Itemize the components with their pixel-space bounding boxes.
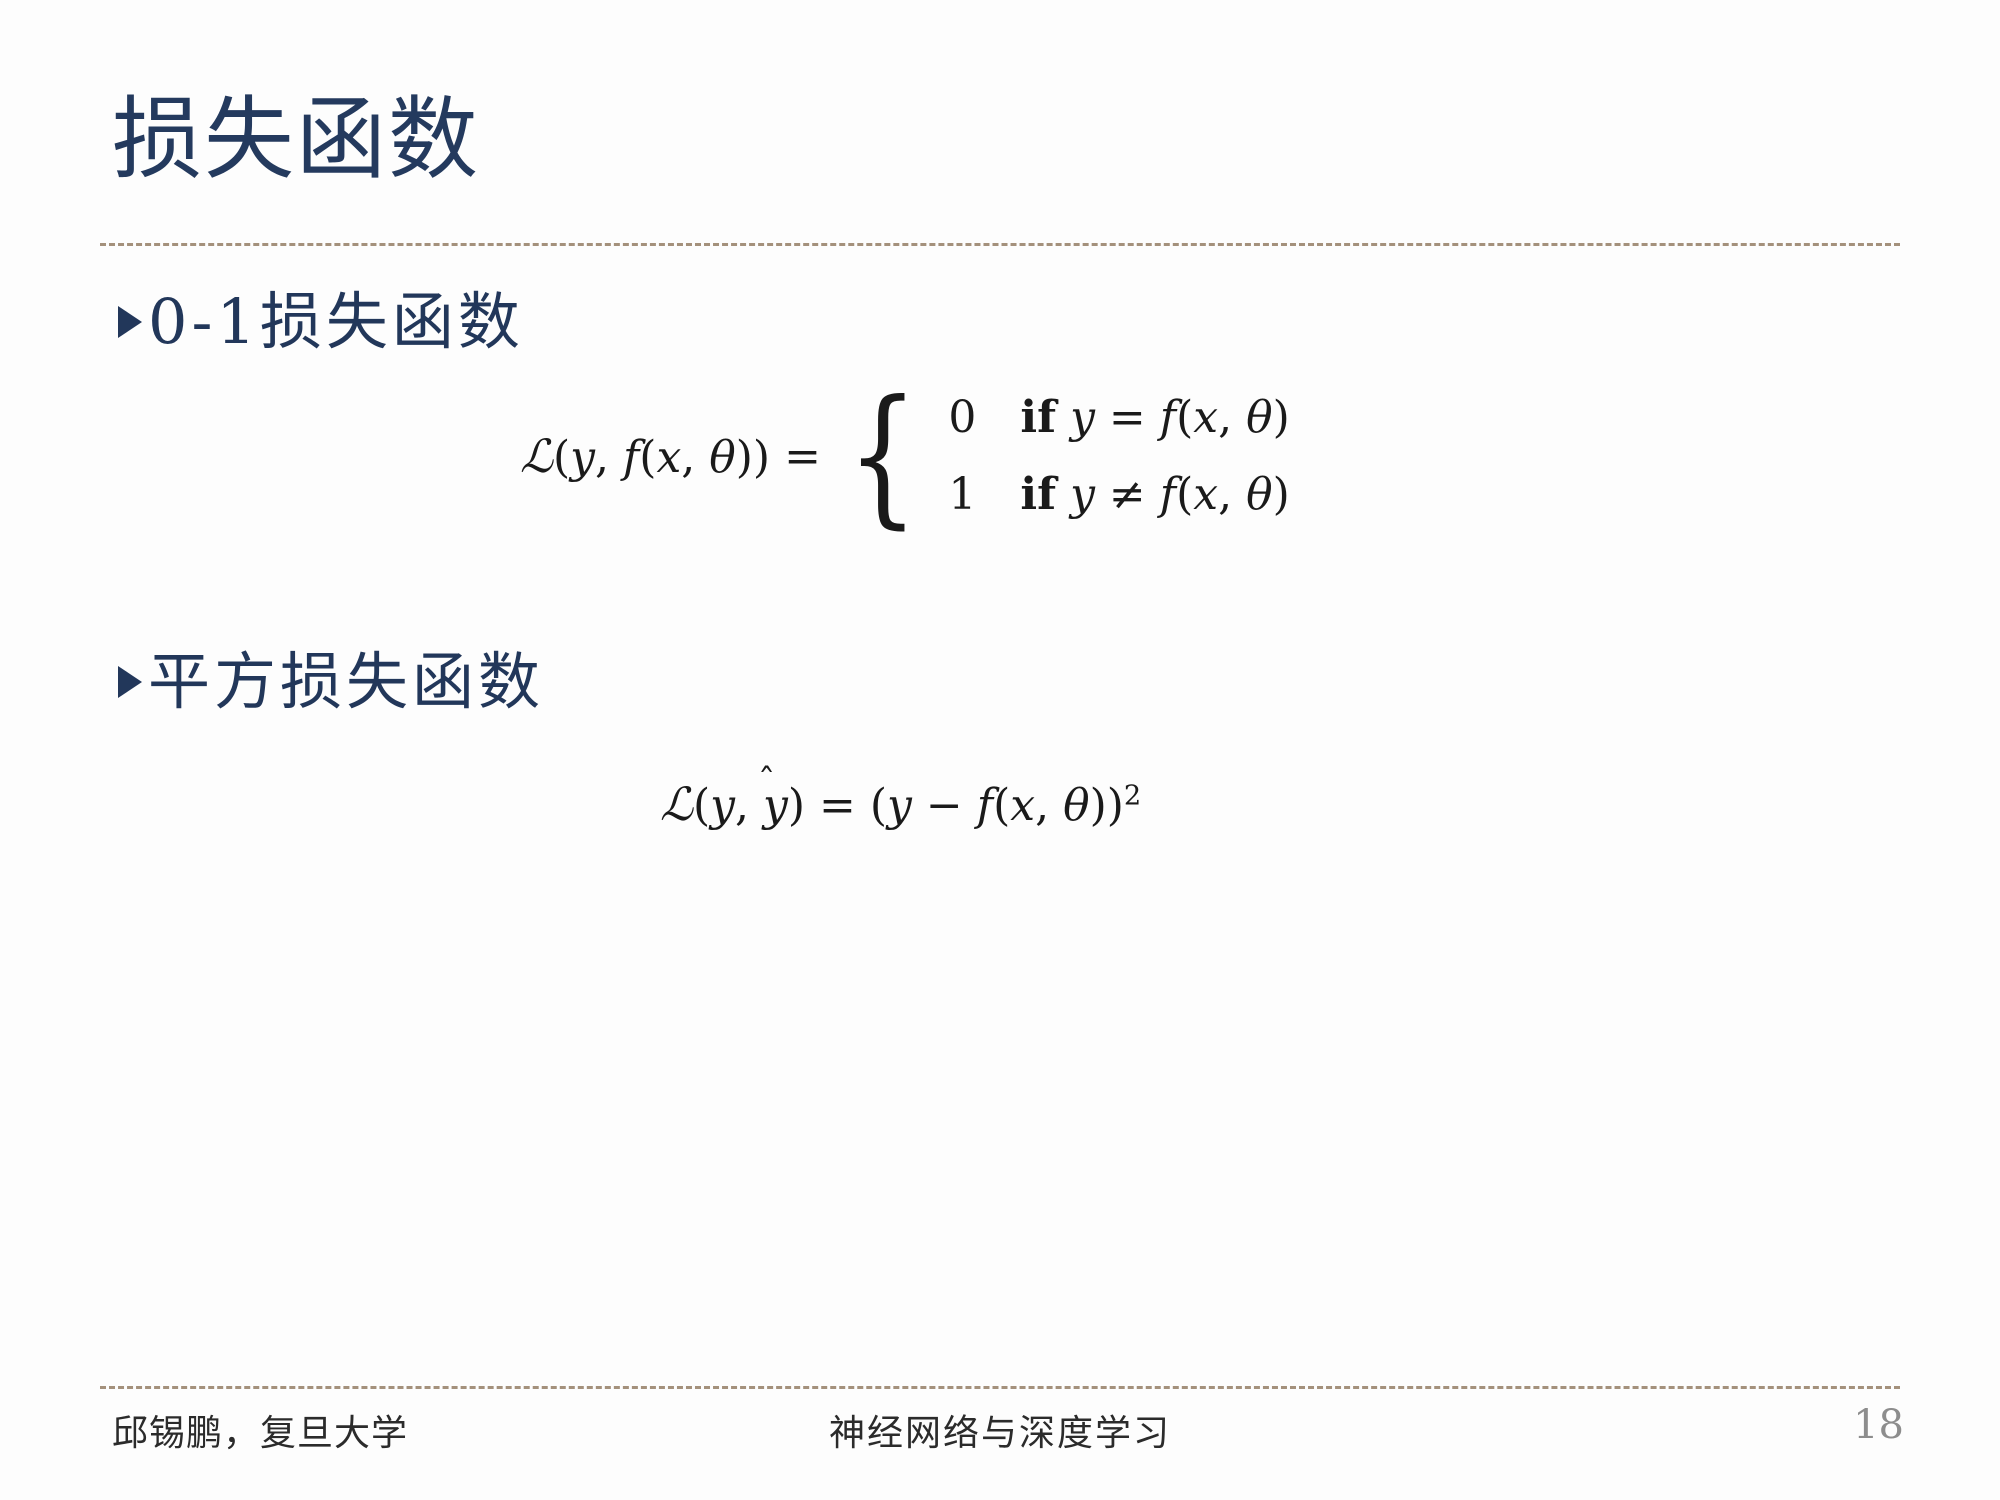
bullet-label: 0-1损失函数 bbox=[148, 288, 524, 356]
bullet-label: 平方损失函数 bbox=[148, 648, 544, 716]
formula-lhs: ℒ(y, f(x, θ)) bbox=[520, 430, 770, 483]
case-row: 0 if y = f(x, θ) bbox=[948, 392, 1289, 443]
case-row: 1 if y ≠ f(x, θ) bbox=[948, 469, 1289, 520]
formula-zero-one-loss: ℒ(y, f(x, θ)) = { 0 if y = f(x, θ) 1 if … bbox=[520, 392, 1290, 520]
case-keyword-if: if bbox=[1020, 469, 1056, 520]
slide-canvas: 损失函数 0-1损失函数 ℒ(y, f(x, θ)) = { 0 if y = … bbox=[0, 0, 2000, 1500]
case-condition: y ≠ f(x, θ) bbox=[1070, 469, 1290, 520]
page-number: 18 bbox=[1853, 1402, 1904, 1448]
triangle-right-icon bbox=[118, 306, 142, 338]
left-brace-icon: { bbox=[847, 398, 919, 515]
case-condition: y = f(x, θ) bbox=[1070, 392, 1290, 443]
case-value: 1 bbox=[948, 469, 1020, 520]
case-value: 0 bbox=[948, 392, 1020, 443]
bullet-item-zero-one: 0-1损失函数 bbox=[118, 288, 524, 356]
case-keyword-if: if bbox=[1020, 392, 1056, 443]
formula-square-loss: ℒ(y, ̂y) = (y − f(x, θ))2 bbox=[660, 778, 1141, 831]
title-divider bbox=[100, 243, 1900, 246]
footer-book-title: 神经网络与深度学习 bbox=[0, 1404, 2000, 1456]
page-title: 损失函数 bbox=[112, 88, 480, 192]
triangle-right-icon bbox=[118, 666, 142, 698]
formula-cases: 0 if y = f(x, θ) 1 if y ≠ f(x, θ) bbox=[948, 392, 1289, 520]
formula-equals-sign: = bbox=[784, 431, 821, 482]
bullet-item-square-loss: 平方损失函数 bbox=[118, 648, 544, 716]
footer-divider bbox=[100, 1386, 1900, 1389]
